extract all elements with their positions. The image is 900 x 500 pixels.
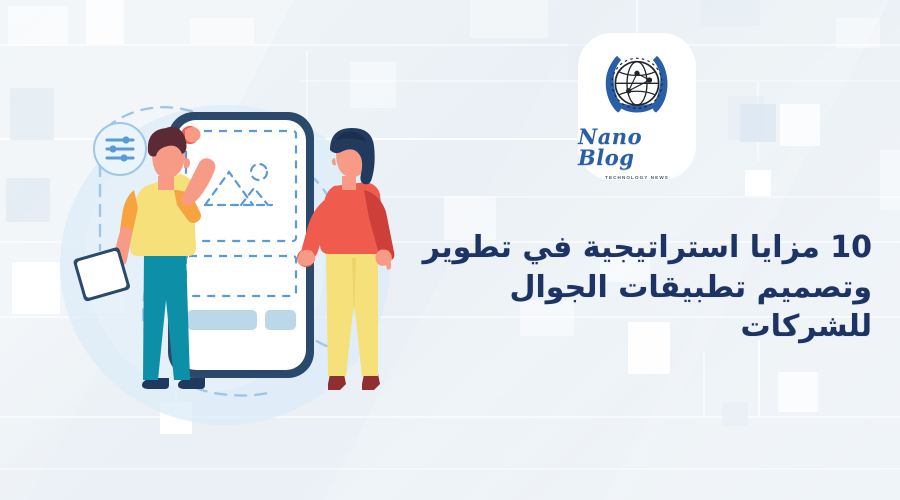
headline-text: 10 مزايا استراتيجية في تطوير وتصميم تطبي… (402, 228, 872, 347)
logo-tagline: TECHNOLOGY NEWS (605, 175, 669, 180)
bg-square (740, 104, 776, 142)
bg-square (880, 150, 900, 210)
bg-line (360, 196, 900, 198)
bg-square (470, 0, 548, 38)
headline-line-2: وتصميم تطبيقات الجوال (402, 268, 872, 308)
headline-line-1: 10 مزايا استراتيجية في تطوير (402, 228, 872, 268)
bg-vline (758, 340, 760, 416)
bg-square (700, 0, 760, 26)
nano-blog-logo[interactable]: Nano Blog TECHNOLOGY NEWS (578, 33, 696, 180)
bg-square (745, 170, 771, 196)
globe-network-icon (595, 45, 679, 125)
primary-bar (187, 310, 257, 330)
banner-canvas: 10 01 (0, 0, 900, 500)
bg-vline (703, 352, 705, 416)
secondary-bar (265, 310, 296, 330)
headline-line-3: للشركات (402, 307, 872, 347)
bg-square (722, 402, 748, 426)
illustration-artwork: 10 01 (0, 0, 430, 500)
bg-square (836, 18, 880, 48)
bg-square (778, 372, 818, 412)
bg-square (780, 104, 820, 146)
logo-wordmark: Nano Blog (578, 126, 696, 168)
sliders-settings-icon (94, 123, 146, 175)
